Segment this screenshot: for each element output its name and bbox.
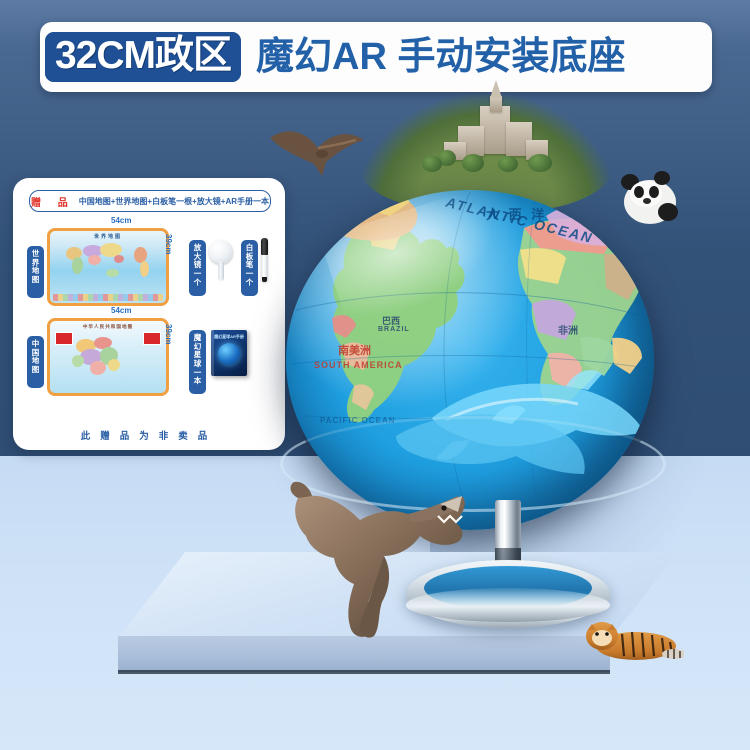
tiger-icon [578, 612, 684, 662]
gift-header-list: 中国地图+世界地图+白板笔一根+放大镜+AR手册一本 [79, 196, 269, 207]
marker-pen-icon [261, 238, 268, 282]
tag-magnifier: 放大镜一个 [189, 240, 206, 296]
tyrannosaurus-rex-icon [288, 478, 478, 658]
gift-panel: 赠 品 中国地图+世界地图+白板笔一根+放大镜+AR手册一本 世界地图 54cm… [13, 178, 285, 450]
china-flag-icon [55, 332, 73, 345]
pterosaur-icon [264, 118, 372, 190]
pedestal-shadow [118, 670, 610, 674]
china-map-width: 54cm [111, 306, 131, 315]
tag-china-map: 中国地图 [27, 336, 44, 388]
magnifier-icon [209, 240, 235, 284]
gift-footer-note: 此赠品为非卖品 [29, 428, 269, 442]
china-emblem-icon [143, 332, 161, 345]
world-map-title: 世界地图 [50, 233, 166, 240]
size-badge: 32CM政区 [45, 32, 241, 82]
tag-world-map: 世界地图 [27, 246, 44, 298]
china-map-title: 中华人民共和国地图 [50, 324, 166, 330]
castle-icon [436, 90, 554, 168]
gift-header: 赠 品 中国地图+世界地图+白板笔一根+放大镜+AR手册一本 [29, 190, 271, 212]
world-map-height: 39cm [164, 234, 173, 254]
headline-text: 魔幻AR 手动安装底座 [256, 38, 625, 76]
gift-header-label: 赠 品 [31, 194, 75, 209]
ar-book-icon: 魔幻星球AR手册 [211, 330, 247, 376]
china-map-image: 中华人民共和国地图 [50, 321, 166, 393]
headline-banner: 32CM政区 魔幻AR 手动安装底座 [40, 22, 712, 92]
ar-book-title: 魔幻星球AR手册 [211, 334, 247, 340]
tag-marker-pen: 白板笔一个 [241, 240, 258, 296]
china-map-height: 39cm [164, 324, 173, 344]
world-map-width: 54cm [111, 216, 131, 225]
size-badge-label: 32CM政区 [55, 36, 231, 75]
china-map-card: 中华人民共和国地图 [47, 318, 169, 396]
tag-ar-book: 魔幻星球一本 [189, 330, 206, 394]
product-ad-stage: 32CM政区 魔幻AR 手动安装底座 赠 品 中国地图+世界地图+白板笔一根+放… [0, 0, 750, 750]
world-map-card: 世界地图 [47, 228, 169, 306]
world-map-image: 世界地图 [50, 231, 166, 303]
